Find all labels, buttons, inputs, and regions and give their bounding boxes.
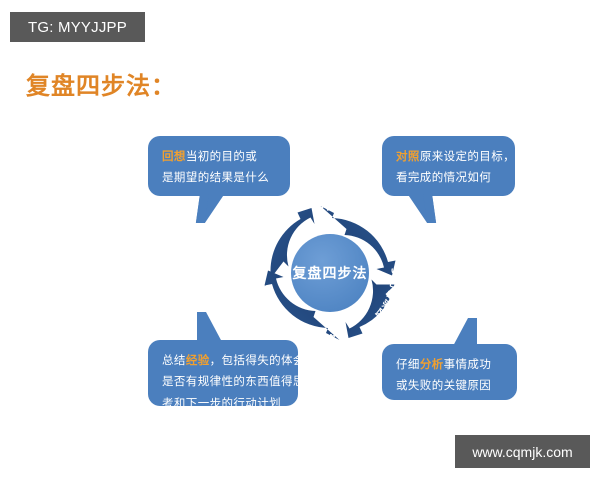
callout-highlight: 对照 [396,149,420,163]
callout-text: 当初的目的或 [186,149,257,163]
cycle-diagram: 1.回顾目标 2.评估结果 3.分析原因 4.总结经验 复盘四步法 [244,194,416,352]
slide-canvas: TG: MYYJJPP 复盘四步法： 回想当初的目的或 是期望的结果是什么 对照… [0,0,600,480]
callout-highlight: 经验 [186,353,210,367]
callout-line: 是否有规律性的东西值得思 [162,371,284,392]
site-watermark: www.cqmjk.com [455,435,590,468]
cycle-center-label: 复盘四步法 [292,265,368,282]
cycle-diagram-svg: 1.回顾目标 2.评估结果 3.分析原因 4.总结经验 复盘四步法 [244,194,416,352]
callout-line: 看完成的情况如何 [396,167,501,188]
callout-text: 考和下一步的行动计划 [162,396,281,410]
callout-line: 仔细分析事情成功 [396,354,503,375]
callout-highlight: 回想 [162,149,186,163]
callout-top-left: 回想当初的目的或 是期望的结果是什么 [148,136,290,196]
callout-bottom-right-tail [452,318,477,348]
callout-text: 原来设定的目标， [420,149,515,163]
tg-watermark-badge: TG: MYYJJPP [10,12,145,42]
callout-line: 回想当初的目的或 [162,146,276,167]
page-title: 复盘四步法： [26,66,176,101]
callout-line: 是期望的结果是什么 [162,167,276,188]
callout-bottom-right: 仔细分析事情成功 或失败的关键原因 [382,344,517,400]
tg-watermark-label: TG: MYYJJPP [28,19,127,36]
callout-line: 或失败的关键原因 [396,375,503,396]
callout-text: ，包括得失的体会 [210,353,305,367]
callout-highlight: 分析 [420,357,444,371]
callout-line: 总结经验，包括得失的体会 [162,350,284,371]
callout-line: 考和下一步的行动计划 [162,393,284,414]
callout-text: 是否有规律性的东西值得思 [162,374,305,388]
callout-text: 看完成的情况如何 [396,170,491,184]
callout-line: 对照原来设定的目标， [396,146,501,167]
callout-text: 是期望的结果是什么 [162,170,269,184]
callout-bottom-left-tail [197,312,222,342]
callout-text: 事情成功 [444,357,492,371]
callout-top-left-tail [196,193,225,223]
site-watermark-label: www.cqmjk.com [472,444,572,460]
callout-text: 仔细 [396,357,420,371]
callout-text: 或失败的关键原因 [396,378,491,392]
callout-top-right: 对照原来设定的目标， 看完成的情况如何 [382,136,515,196]
callout-text: 总结 [162,353,186,367]
